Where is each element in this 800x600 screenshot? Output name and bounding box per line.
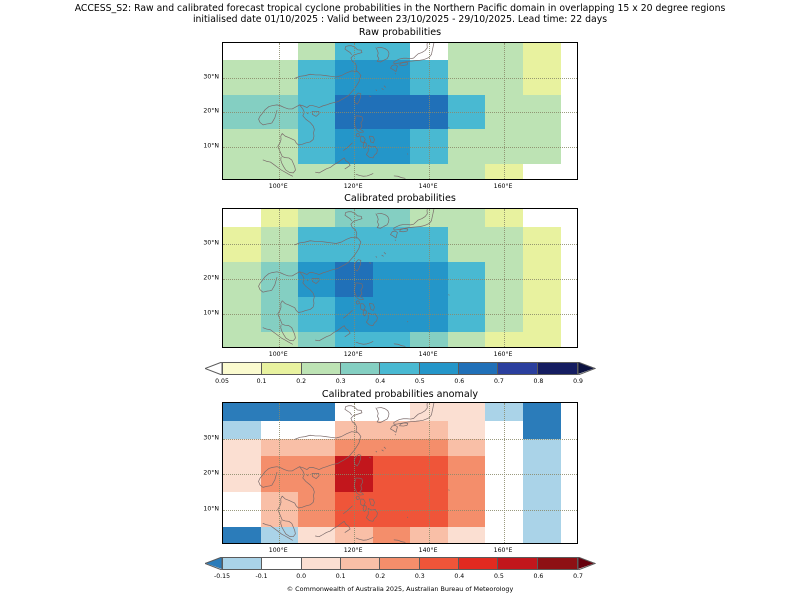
colorbar-segment [459,558,498,569]
heatmap-cell [261,456,299,474]
heatmap-cell [373,129,411,147]
heatmap-cell [410,527,448,544]
heatmap-cell [298,474,336,492]
suptitle-line-2: initialised date 01/10/2025 : Valid betw… [0,14,800,25]
heatmap-cell [223,456,261,474]
heatmap-cell [223,527,261,544]
heatmap-cell [523,129,561,147]
heatmap-grid [223,43,577,179]
heatmap-cell [223,474,261,492]
xtick-label: 140°E [419,547,438,554]
heatmap-cell [448,474,486,492]
heatmap-cell [448,129,486,147]
heatmap-cell [448,244,486,262]
heatmap-cell [410,95,448,113]
figure-canvas: ACCESS_S2: Raw and calibrated forecast t… [0,0,800,600]
heatmap-cell [335,95,373,113]
heatmap-cell [523,164,561,180]
colorbar-tick-label: 0.2 [296,378,306,385]
heatmap-cell [223,279,261,297]
colorbar-segment [262,558,301,569]
heatmap-cell [410,403,448,421]
colorbar-probability[interactable] [205,362,595,375]
heatmap-cell [298,439,336,457]
heatmap-cell [485,95,523,113]
colorbar-tick-label: 0.0 [296,573,306,580]
heatmap-cell [523,78,561,96]
heatmap-cell [523,421,561,439]
heatmap-cell [298,78,336,96]
colorbar-tick-label: -0.1 [256,573,268,580]
heatmap-cell [523,492,561,510]
colorbar-tick-label: 0.3 [336,378,346,385]
heatmap-cell [485,262,523,280]
xtick-label: 140°E [419,351,438,358]
ytick-label: 20°N [198,108,219,115]
heatmap-cell [485,279,523,297]
heatmap-cell [261,43,299,61]
heatmap-cell [261,164,299,180]
panel-title-raw: Raw probabilities [0,27,800,38]
colorbar-tick-label: 0.3 [415,573,425,580]
colorbar-tick-label: -0.15 [214,573,230,580]
ytick-label: 10°N [198,505,219,512]
heatmap-cell [223,129,261,147]
xtick-label: 120°E [344,351,363,358]
heatmap-cell [448,297,486,315]
heatmap-cell [373,78,411,96]
heatmap-cell [335,112,373,130]
heatmap-cell [261,527,299,544]
heatmap-cell [410,227,448,245]
heatmap-cell [298,95,336,113]
heatmap-cell [298,60,336,78]
heatmap-cell [298,332,336,349]
heatmap-cell [485,209,523,227]
colorbar-tick-label: 0.8 [534,378,544,385]
colorbar-under-arrow-outline [205,362,223,375]
heatmap-cell [485,129,523,147]
heatmap-cell [373,527,411,544]
heatmap-cell [373,439,411,457]
colorbar-segment [262,363,301,374]
figure-suptitle: ACCESS_S2: Raw and calibrated forecast t… [0,3,800,26]
heatmap-cell [485,78,523,96]
heatmap-cell [410,147,448,165]
heatmap-cell [373,262,411,280]
heatmap-cell [485,439,523,457]
colorbar-tick-label: 0.5 [494,573,504,580]
heatmap-cell [410,262,448,280]
colorbar-tick-label: 0.2 [375,573,385,580]
heatmap-cell [523,332,561,349]
colorbar-segment [459,363,498,374]
heatmap-cell [335,227,373,245]
heatmap-cell [335,262,373,280]
heatmap-cell [485,164,523,180]
heatmap-cell [335,60,373,78]
heatmap-cell [373,456,411,474]
heatmap-cell [373,421,411,439]
heatmap-cell [261,314,299,332]
heatmap-cell [335,456,373,474]
ytick-label: 20°N [198,470,219,477]
colorbar-tick-label: 0.4 [454,573,464,580]
colorbar-over-arrow-outline [578,362,596,375]
heatmap-cell [298,112,336,130]
heatmap-cell [373,95,411,113]
ytick-label: 30°N [198,434,219,441]
heatmap-cell [373,332,411,349]
heatmap-cell [523,43,561,61]
heatmap-cell [485,474,523,492]
heatmap-cell [335,244,373,262]
heatmap-cell [485,112,523,130]
heatmap-grid [223,209,577,347]
colorbar-tick-label: 0.7 [573,573,583,580]
panel-title-calibrated: Calibrated probabilities [0,193,800,204]
heatmap-cell [223,421,261,439]
heatmap-cell [298,297,336,315]
colorbar-segment [302,363,341,374]
heatmap-cell [448,492,486,510]
heatmap-cell [448,332,486,349]
heatmap-cell [485,456,523,474]
heatmap-cell [298,314,336,332]
heatmap-cell [223,297,261,315]
heatmap-cell [373,147,411,165]
heatmap-cell [410,297,448,315]
colorbar-segment [420,363,459,374]
heatmap-cell [261,78,299,96]
heatmap-cell [261,129,299,147]
heatmap-cell [335,129,373,147]
heatmap-cell [261,297,299,315]
heatmap-cell [223,314,261,332]
heatmap-cell [223,112,261,130]
ytick-label: 30°N [198,240,219,247]
heatmap-cell [373,227,411,245]
colorbar-segment [223,558,262,569]
heatmap-cell [373,314,411,332]
heatmap-cell [410,456,448,474]
xtick-label: 160°E [494,547,513,554]
heatmap-cell [298,227,336,245]
heatmap-cell [410,439,448,457]
heatmap-cell [261,492,299,510]
heatmap-cell [335,279,373,297]
heatmap-cell [298,244,336,262]
heatmap-cell [523,262,561,280]
heatmap-cell [373,112,411,130]
heatmap-cell [485,332,523,349]
heatmap-cell [523,279,561,297]
map-panel-raw[interactable] [222,42,578,180]
heatmap-cell [261,112,299,130]
heatmap-cell [448,279,486,297]
heatmap-cell [373,244,411,262]
heatmap-cell [448,78,486,96]
heatmap-cell [448,95,486,113]
heatmap-cell [335,527,373,544]
heatmap-cell [335,474,373,492]
heatmap-cell [261,209,299,227]
heatmap-cell [373,164,411,180]
colorbar-tick-label: 0.9 [573,378,583,385]
colorbar-segments[interactable] [222,362,578,375]
colorbar-under-arrow-outline [205,557,223,570]
panel-title-anomaly: Calibrated probabilities anomaly [0,389,800,400]
heatmap-cell [261,279,299,297]
heatmap-cell [523,60,561,78]
heatmap-grid [223,403,577,543]
heatmap-cell [298,209,336,227]
heatmap-cell [448,510,486,528]
colorbar-tick-label: 0.6 [534,573,544,580]
heatmap-cell [448,421,486,439]
heatmap-cell [298,492,336,510]
heatmap-cell [410,421,448,439]
heatmap-cell [448,112,486,130]
colorbar-segment [380,558,419,569]
heatmap-cell [448,439,486,457]
heatmap-cell [298,129,336,147]
heatmap-cell [523,112,561,130]
heatmap-cell [223,439,261,457]
heatmap-cell [223,492,261,510]
heatmap-cell [261,510,299,528]
heatmap-cell [523,147,561,165]
heatmap-cell [410,43,448,61]
heatmap-cell [410,164,448,180]
heatmap-cell [485,43,523,61]
heatmap-cell [373,279,411,297]
heatmap-cell [523,314,561,332]
colorbar-tick-label: 0.6 [454,378,464,385]
heatmap-cell [523,209,561,227]
suptitle-line-1: ACCESS_S2: Raw and calibrated forecast t… [0,3,800,14]
heatmap-cell [261,474,299,492]
heatmap-cell [261,227,299,245]
heatmap-cell [410,209,448,227]
heatmap-cell [335,492,373,510]
heatmap-cell [523,403,561,421]
heatmap-cell [448,262,486,280]
colorbar-tick-label: 0.05 [215,378,229,385]
heatmap-cell [223,403,261,421]
heatmap-cell [410,129,448,147]
heatmap-cell [485,527,523,544]
colorbar-segment [341,363,380,374]
heatmap-cell [373,474,411,492]
heatmap-cell [448,527,486,544]
heatmap-cell [298,43,336,61]
heatmap-cell [223,78,261,96]
heatmap-cell [335,439,373,457]
heatmap-cell [448,60,486,78]
heatmap-cell [261,244,299,262]
map-panel-anomaly[interactable] [222,402,578,544]
heatmap-cell [261,262,299,280]
heatmap-cell [335,209,373,227]
ytick-label: 30°N [198,73,219,80]
heatmap-cell [335,510,373,528]
heatmap-cell [373,403,411,421]
heatmap-cell [373,60,411,78]
heatmap-cell [523,297,561,315]
heatmap-cell [223,262,261,280]
heatmap-cell [485,60,523,78]
heatmap-cell [298,147,336,165]
heatmap-cell [485,492,523,510]
heatmap-cell [485,510,523,528]
heatmap-cell [373,43,411,61]
heatmap-cell [448,403,486,421]
heatmap-cell [448,227,486,245]
heatmap-cell [373,510,411,528]
colorbar-tick-label: 0.7 [494,378,504,385]
heatmap-cell [373,297,411,315]
heatmap-cell [523,95,561,113]
heatmap-cell [223,227,261,245]
heatmap-cell [448,43,486,61]
ytick-label: 20°N [198,275,219,282]
colorbar-segment [498,558,537,569]
xtick-label: 100°E [269,547,288,554]
colorbar-tick-label: 0.1 [336,573,346,580]
heatmap-cell [448,314,486,332]
heatmap-cell [410,492,448,510]
colorbar-tick-label: 0.5 [415,378,425,385]
heatmap-cell [335,147,373,165]
heatmap-cell [261,421,299,439]
heatmap-cell [523,456,561,474]
heatmap-cell [223,510,261,528]
colorbar-segment [538,363,577,374]
xtick-label: 120°E [344,183,363,190]
heatmap-cell [298,262,336,280]
heatmap-cell [523,227,561,245]
colorbar-over-arrow-outline [578,557,596,570]
heatmap-cell [261,147,299,165]
colorbar-segment [302,558,341,569]
heatmap-cell [410,244,448,262]
heatmap-cell [485,421,523,439]
heatmap-cell [223,95,261,113]
heatmap-cell [410,279,448,297]
heatmap-cell [485,244,523,262]
heatmap-cell [298,510,336,528]
colorbar-segment [380,363,419,374]
xtick-label: 140°E [419,183,438,190]
heatmap-cell [410,60,448,78]
heatmap-cell [335,43,373,61]
heatmap-cell [335,332,373,349]
heatmap-cell [448,164,486,180]
colorbar-segment [223,363,262,374]
heatmap-cell [373,209,411,227]
heatmap-cell [298,421,336,439]
heatmap-cell [298,527,336,544]
heatmap-cell [485,403,523,421]
xtick-label: 100°E [269,351,288,358]
heatmap-cell [523,474,561,492]
heatmap-cell [335,164,373,180]
xtick-label: 160°E [494,183,513,190]
heatmap-cell [335,297,373,315]
colorbar-segments[interactable] [222,557,578,570]
heatmap-cell [448,209,486,227]
heatmap-cell [261,60,299,78]
xtick-label: 160°E [494,351,513,358]
heatmap-cell [373,492,411,510]
colorbar-tick-label: 0.4 [375,378,385,385]
heatmap-cell [485,297,523,315]
heatmap-cell [335,314,373,332]
heatmap-cell [223,164,261,180]
heatmap-cell [298,403,336,421]
heatmap-cell [410,510,448,528]
heatmap-cell [485,314,523,332]
heatmap-cell [223,60,261,78]
heatmap-cell [485,147,523,165]
heatmap-cell [298,456,336,474]
heatmap-cell [448,147,486,165]
colorbar-segment [341,558,380,569]
heatmap-cell [410,78,448,96]
heatmap-cell [410,314,448,332]
heatmap-cell [261,95,299,113]
xtick-label: 120°E [344,547,363,554]
colorbar-tick-label: 0.1 [257,378,267,385]
heatmap-cell [523,244,561,262]
heatmap-cell [261,439,299,457]
heatmap-cell [523,439,561,457]
heatmap-cell [223,332,261,349]
heatmap-cell [335,78,373,96]
colorbar-anomaly[interactable] [205,557,595,570]
heatmap-cell [523,527,561,544]
heatmap-cell [410,474,448,492]
colorbar-segment [498,363,537,374]
heatmap-cell [223,147,261,165]
xtick-label: 100°E [269,183,288,190]
heatmap-cell [410,332,448,349]
copyright-footer: © Commonwealth of Australia 2025, Austra… [0,585,800,593]
heatmap-cell [223,43,261,61]
heatmap-cell [335,421,373,439]
heatmap-cell [448,456,486,474]
heatmap-cell [335,403,373,421]
map-panel-calibrated[interactable] [222,208,578,348]
colorbar-segment [420,558,459,569]
heatmap-cell [223,244,261,262]
heatmap-cell [261,403,299,421]
heatmap-cell [298,279,336,297]
heatmap-cell [485,227,523,245]
ytick-label: 10°N [198,310,219,317]
heatmap-cell [523,510,561,528]
heatmap-cell [223,209,261,227]
heatmap-cell [410,112,448,130]
ytick-label: 10°N [198,142,219,149]
heatmap-cell [261,332,299,349]
colorbar-segment [538,558,577,569]
heatmap-cell [298,164,336,180]
